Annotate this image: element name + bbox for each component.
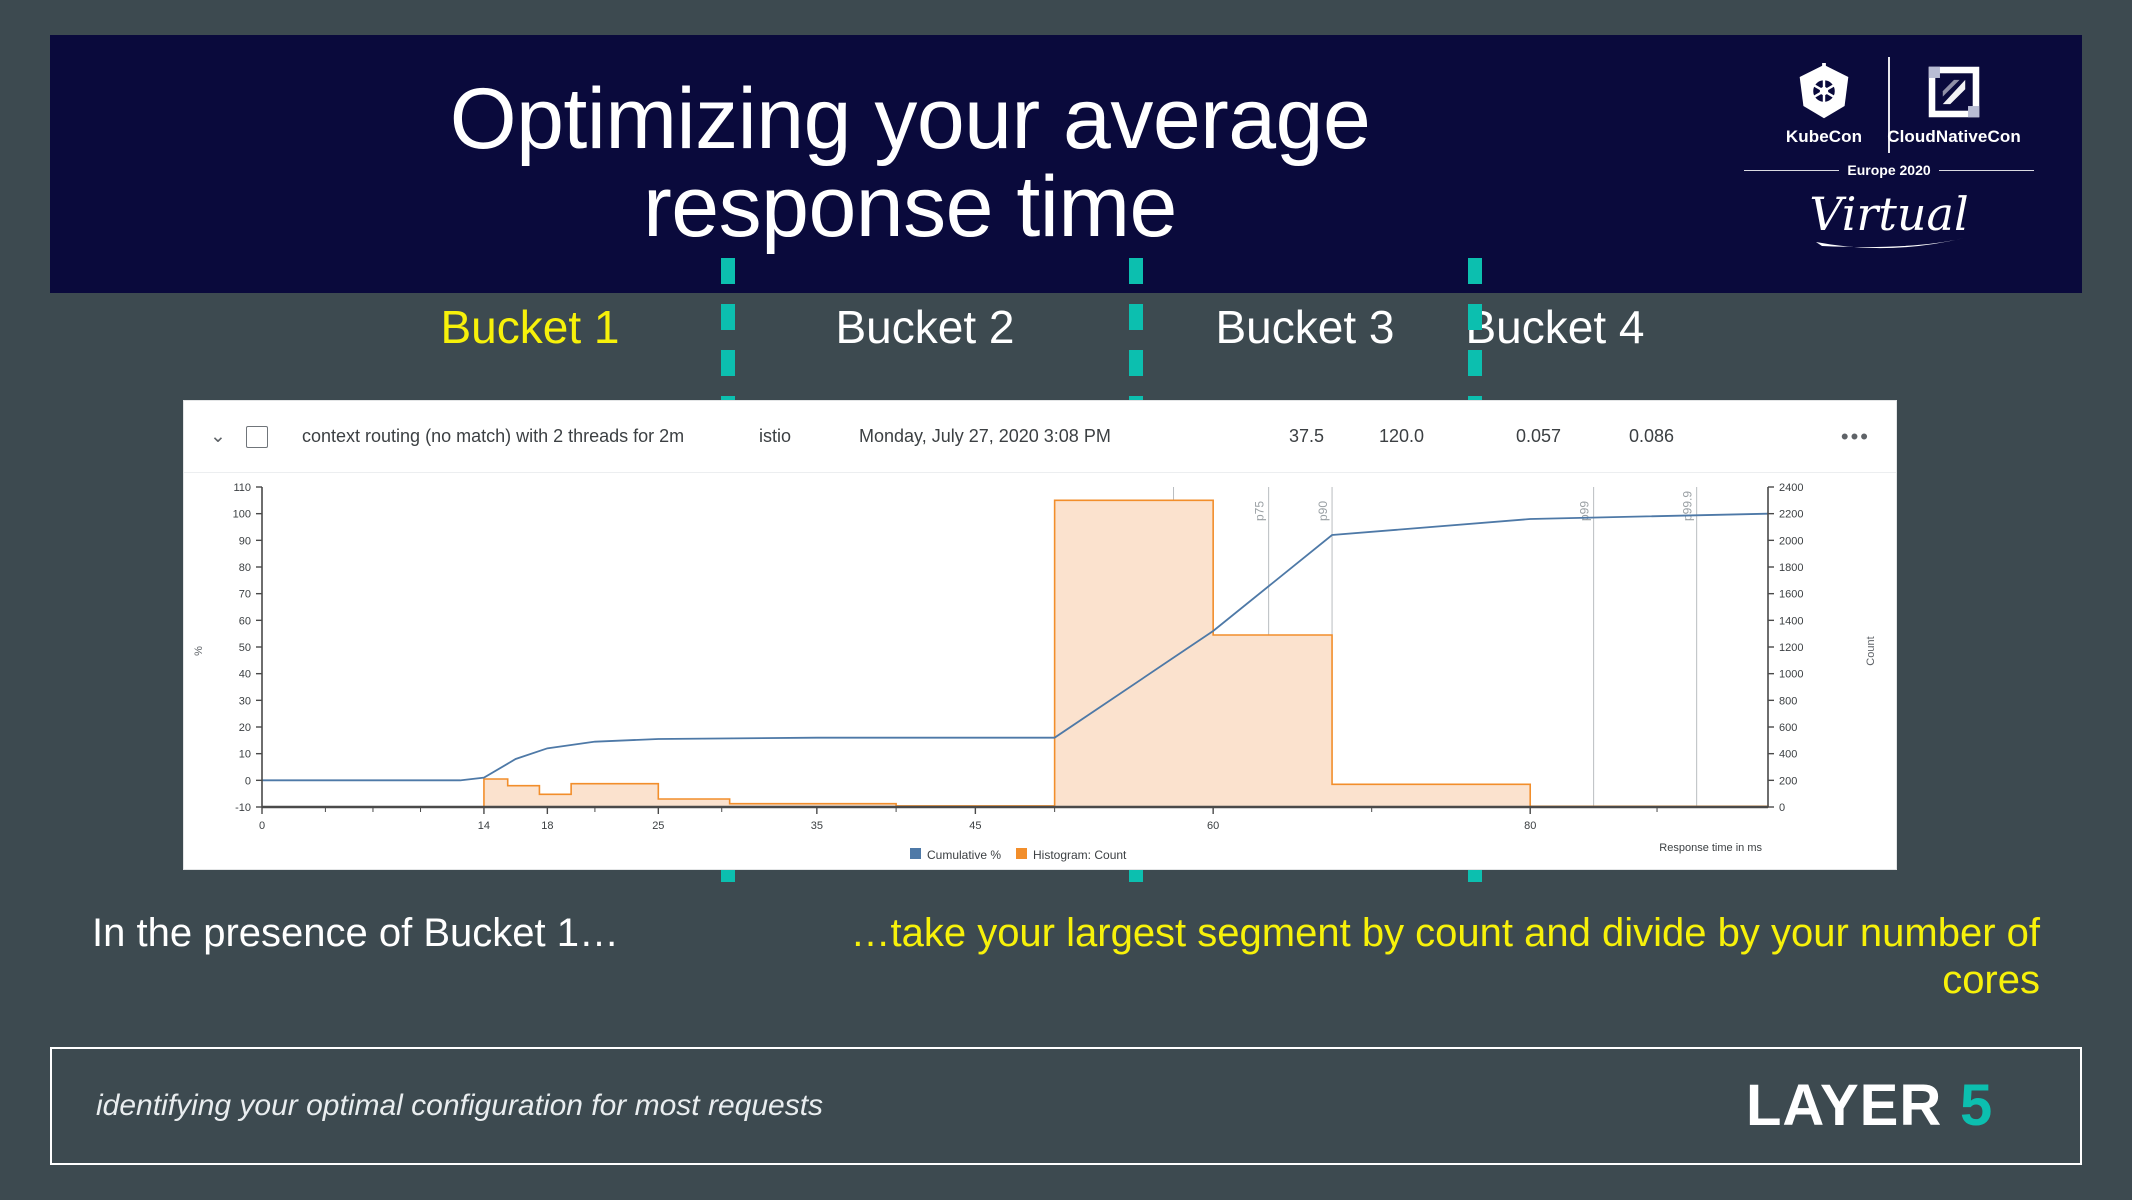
kubecon-logo: KubeCon CloudNativeCon (1744, 57, 2034, 272)
bucket-label-4: Bucket 4 (1425, 300, 1685, 354)
cncf-square-icon (1924, 63, 1984, 121)
slide-header: Optimizing your average response time (50, 35, 2082, 293)
y-tick-label-right: 200 (1779, 775, 1797, 787)
edition-row: Europe 2020 (1744, 162, 2034, 178)
y-tick-label-left: 80 (239, 562, 251, 574)
slide-footer: identifying your optimal configuration f… (50, 1047, 2082, 1165)
legend-swatch (910, 848, 921, 859)
y-tick-label-left: 30 (239, 695, 251, 707)
kubernetes-helm-icon (1794, 63, 1854, 121)
chevron-down-icon[interactable]: ⌄ (206, 425, 230, 448)
y-tick-label-right: 1600 (1779, 589, 1803, 601)
chart-canvas: p50p75p90p99p99.9-1001020304050607080901… (184, 473, 1896, 869)
edition-rule-left (1744, 170, 1839, 171)
bucket-label-2: Bucket 2 (795, 300, 1055, 354)
edition-rule-right (1939, 170, 2034, 171)
y-tick-label-left: 0 (245, 775, 251, 787)
page-title-wrap: Optimizing your average response time (50, 35, 1770, 293)
edition-label: Europe 2020 (1847, 162, 1930, 178)
layer5-wordmark-icon: LAYER 5 (1746, 1075, 2036, 1137)
legend-label: Cumulative % (927, 848, 1001, 862)
result-card: ⌄ context routing (no match) with 2 thre… (183, 400, 1897, 870)
bucket-label-strip: Bucket 1 Bucket 2 Bucket 3 Bucket 4 (0, 300, 2132, 378)
y-tick-label-right: 600 (1779, 722, 1797, 734)
histogram-chart: p50p75p90p99p99.9-1001020304050607080901… (184, 473, 1896, 869)
y-tick-label-left: 20 (239, 722, 251, 734)
y-tick-label-right: 800 (1779, 695, 1797, 707)
result-timestamp: Monday, July 27, 2020 3:08 PM (859, 426, 1111, 447)
layer5-digit: 5 (1960, 1075, 1992, 1137)
y-tick-label-right: 0 (1779, 802, 1785, 814)
result-metric-4: 0.086 (1629, 426, 1674, 447)
x-axis-label: Response time in ms (1659, 842, 1762, 854)
x-tick-label: 80 (1524, 820, 1536, 832)
y-axis-label-right: Count (1865, 636, 1877, 665)
y-tick-label-right: 1400 (1779, 615, 1803, 627)
y-tick-label-right: 2200 (1779, 509, 1803, 521)
bucket-label-3: Bucket 3 (1175, 300, 1435, 354)
kubecon-brand: KubeCon (1764, 63, 1884, 147)
y-tick-label-right: 2400 (1779, 482, 1803, 494)
row-checkbox[interactable] (246, 426, 268, 448)
caption-left: In the presence of Bucket 1… (92, 910, 619, 957)
virtual-script-wordmark: Virtual (1774, 180, 2004, 254)
legend-label: Histogram: Count (1033, 848, 1127, 862)
histogram-area (468, 500, 1768, 807)
result-metric-2: 120.0 (1379, 426, 1424, 447)
percentile-label: p90 (1316, 501, 1330, 521)
y-tick-label-left: 60 (239, 615, 251, 627)
page-title: Optimizing your average response time (310, 76, 1510, 251)
virtual-label: Virtual (1809, 187, 1968, 241)
kubecon-logo-top: KubeCon CloudNativeCon (1764, 57, 2014, 153)
layer5-logo: LAYER 5 (1746, 1075, 2036, 1137)
y-tick-label-left: 90 (239, 535, 251, 547)
y-tick-label-right: 400 (1779, 749, 1797, 761)
cumulative-line (262, 514, 1768, 781)
logo-divider (1888, 57, 1890, 153)
caption-right: …take your largest segment by count and … (790, 910, 2040, 1004)
y-tick-label-left: 50 (239, 642, 251, 654)
x-tick-label: 25 (652, 820, 664, 832)
x-tick-label: 45 (969, 820, 981, 832)
kubecon-label: KubeCon (1786, 127, 1862, 147)
result-row[interactable]: ⌄ context routing (no match) with 2 thre… (184, 401, 1896, 473)
layer5-word: LAYER (1746, 1075, 1942, 1137)
y-tick-label-left: 40 (239, 669, 251, 681)
y-tick-label-left: 10 (239, 749, 251, 761)
percentile-label: p75 (1253, 501, 1267, 521)
y-tick-label-left: 100 (233, 509, 251, 521)
cloudnativecon-label: CloudNativeCon (1887, 127, 2021, 147)
result-name: context routing (no match) with 2 thread… (302, 426, 684, 447)
x-tick-label: 60 (1207, 820, 1219, 832)
footer-tagline: identifying your optimal configuration f… (96, 1089, 823, 1123)
y-axis-label-left: % (193, 646, 205, 656)
cloudnativecon-brand: CloudNativeCon (1894, 63, 2014, 147)
y-tick-label-right: 1800 (1779, 562, 1803, 574)
result-metric-1: 37.5 (1289, 426, 1324, 447)
y-tick-label-right: 2000 (1779, 535, 1803, 547)
x-tick-label: 14 (478, 820, 490, 832)
bucket-label-1: Bucket 1 (400, 300, 660, 354)
y-tick-label-right: 1000 (1779, 669, 1803, 681)
y-tick-label-left: -10 (235, 802, 251, 814)
result-mesh: istio (759, 426, 791, 447)
y-tick-label-right: 1200 (1779, 642, 1803, 654)
result-metric-3: 0.057 (1516, 426, 1561, 447)
overflow-menu-icon[interactable]: ••• (1841, 424, 1870, 450)
y-tick-label-left: 70 (239, 589, 251, 601)
x-tick-label: 0 (259, 820, 265, 832)
legend-swatch (1016, 848, 1027, 859)
x-tick-label: 35 (811, 820, 823, 832)
y-tick-label-left: 110 (233, 482, 251, 494)
slide-root: Optimizing your average response time (0, 0, 2132, 1200)
x-tick-label: 18 (541, 820, 553, 832)
